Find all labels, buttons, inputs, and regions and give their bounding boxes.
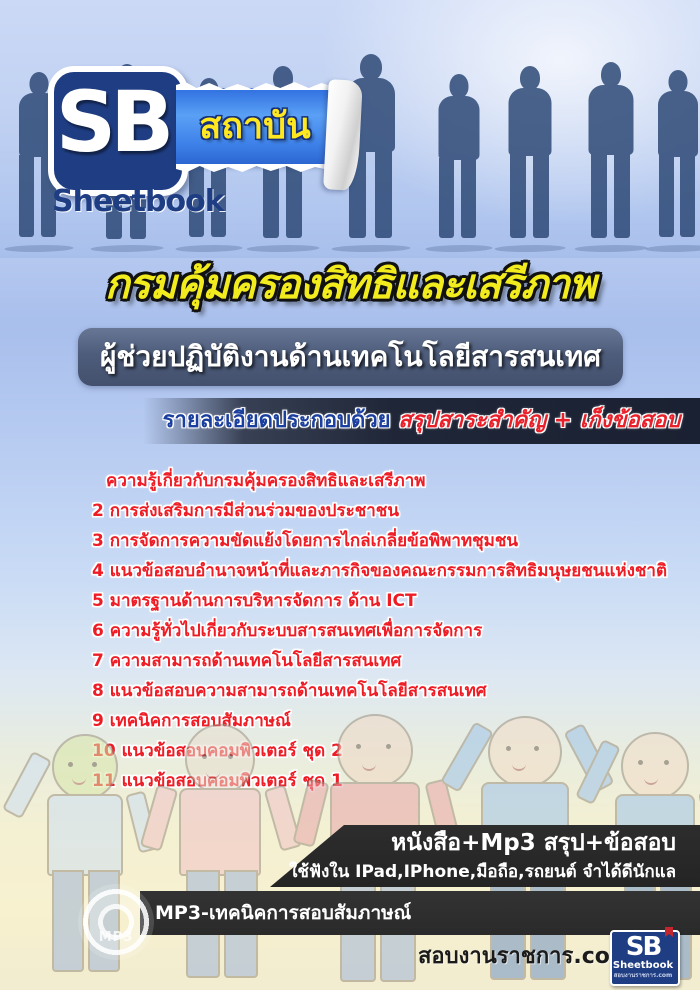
child-figure bbox=[150, 724, 290, 984]
cd-disc-label: MP3 bbox=[78, 930, 154, 945]
list-item: 6 ความรู้ทั่วไปเกี่ยวกับระบบสารสนเทศเพื่… bbox=[92, 616, 692, 646]
footer-logo-sub: สอบงานราชการ.com bbox=[610, 970, 676, 980]
site-url[interactable]: สอบงานราชการ.com bbox=[418, 938, 633, 973]
detail-highlight: สรุปสาระสำคัญ + เก็งข้อสอบ bbox=[398, 408, 680, 433]
poster-root: SB Sheetbook สถาบัน กรมคุ้มครองสิทธิและเ… bbox=[0, 0, 700, 990]
detail-banner: รายละเอียดประกอบด้วย สรุปสาระสำคัญ + เก็… bbox=[143, 398, 700, 444]
brand-logo: SB Sheetbook สถาบัน bbox=[48, 66, 368, 211]
list-item: ความรู้เกี่ยวกับกรมคุ้มครองสิทธิและเสรีภ… bbox=[92, 466, 692, 496]
torn-ribbon-icon: สถาบัน bbox=[176, 88, 334, 166]
promo-line-1: หนังสือ+Mp3 สรุป+ข้อสอบ bbox=[270, 827, 690, 859]
sb-caption: Sheetbook bbox=[52, 184, 212, 219]
silhouette-person-7 bbox=[500, 66, 560, 242]
sb-badge-letters: SB bbox=[48, 66, 176, 184]
list-item: 3 การจัดการความขัดแย้งโดยการไกล่เกลี่ยข้… bbox=[92, 526, 692, 556]
silhouette-person-9 bbox=[650, 70, 700, 242]
detail-prefix: รายละเอียดประกอบด้วย bbox=[163, 408, 391, 433]
subtitle-text: ผู้ช่วยปฏิบัติงานด้านเทคโนโลยีสารสนเทศ bbox=[78, 328, 623, 386]
promo-line-2: ใช้ฟังใน IPad,IPhone,มือถือ,รถยนต์ จำได้… bbox=[270, 858, 690, 886]
silhouette-person-8 bbox=[580, 62, 642, 242]
detail-banner-text: รายละเอียดประกอบด้วย สรุปสาระสำคัญ + เก็… bbox=[143, 398, 700, 444]
cd-disc-icon bbox=[78, 884, 154, 960]
subtitle-pill: ผู้ช่วยปฏิบัติงานด้านเทคโนโลยีสารสนเทศ bbox=[78, 328, 623, 386]
list-item: 4 แนวข้อสอบอำนาจหน้าที่และภารกิจของคณะกร… bbox=[92, 556, 692, 586]
page-title: กรมคุ้มครองสิทธิและเสรีภาพ bbox=[0, 252, 700, 317]
ribbon-label: สถาบัน bbox=[176, 88, 334, 166]
list-item: 5 มาตรฐานด้านการบริหารจัดการ ด้าน ICT bbox=[92, 586, 692, 616]
list-item: 2 การส่งเสริมการมีส่วนร่วมของประชาชน bbox=[92, 496, 692, 526]
silhouette-person-6 bbox=[430, 74, 488, 242]
list-item: 8 แนวข้อสอบความสามารถด้านเทคโนโลยีสารสนเ… bbox=[92, 676, 692, 706]
mp3-bar-text: MP3-เทคนิคการสอบสัมภาษณ์ bbox=[155, 891, 411, 935]
list-item: 7 ความสามารถด้านเทคโนโลยีสารสนเทศ bbox=[92, 646, 692, 676]
paper-curl-icon bbox=[323, 79, 363, 191]
